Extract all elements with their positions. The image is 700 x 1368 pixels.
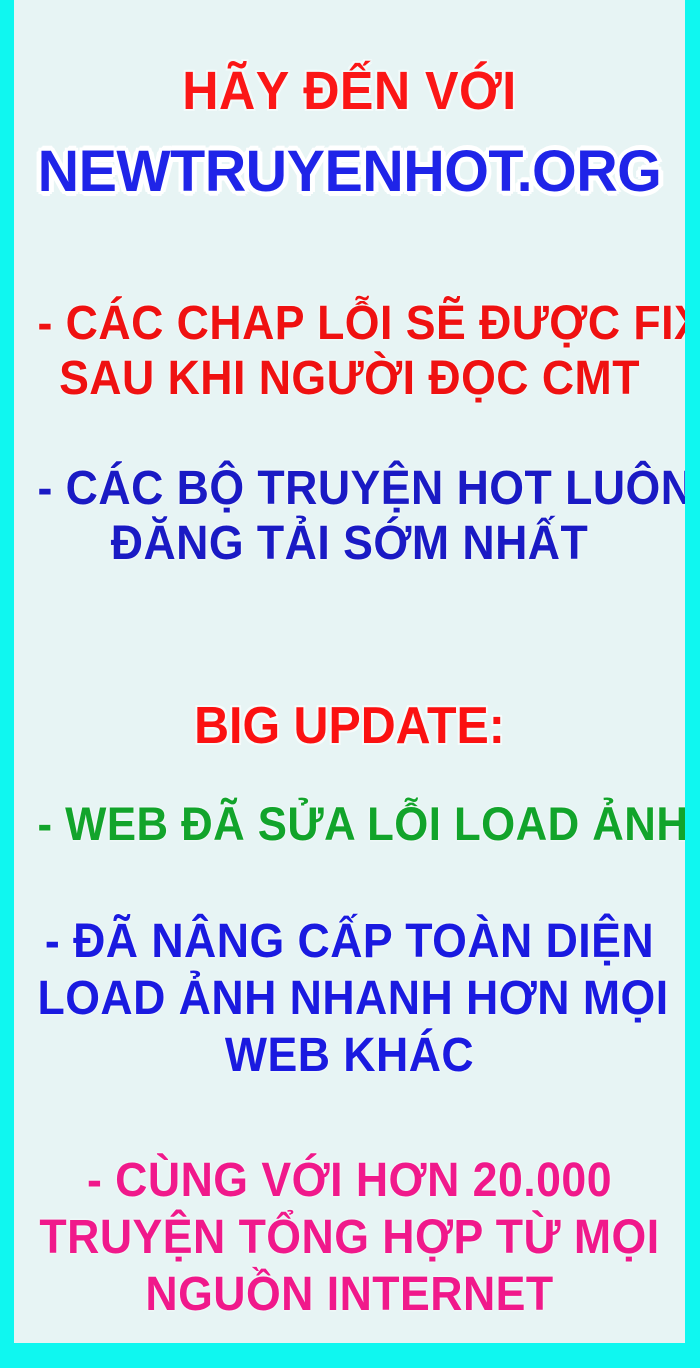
image-load-fix-item-line-1: - WEB ĐÃ SỬA LỖI LOAD ẢNH (37, 797, 661, 851)
banner-heading: HÃY ĐẾN VỚI NEWTRUYENHOT.ORG (14, 0, 685, 204)
chapter-fix-notice-line-2: SAU KHI NGƯỜI ĐỌC CMT (37, 351, 661, 406)
catalog-size-item-line-1: - CÙNG VỚI HƠN 20.000 (37, 1152, 661, 1209)
site-url-link[interactable]: NEWTRUYENHOT.ORG (17, 120, 681, 204)
promo-canvas: HÃY ĐẾN VỚI NEWTRUYENHOT.ORG - CÁC CHAP … (14, 0, 685, 1343)
promo-banner: HÃY ĐẾN VỚI NEWTRUYENHOT.ORG - CÁC CHAP … (0, 0, 700, 1368)
upgrade-item-line-2: LOAD ẢNH NHANH HƠN MỌI (37, 970, 661, 1027)
upgrade-item-line-1: - ĐÃ NÂNG CẤP TOÀN DIỆN (37, 913, 661, 970)
catalog-size-item-line-3: NGUỒN INTERNET (37, 1266, 661, 1323)
update-section-header: BIG UPDATE: (14, 571, 685, 755)
catalog-size-item: - CÙNG VỚI HƠN 20.000 TRUYỆN TỔNG HỢP TỪ… (14, 1084, 685, 1323)
heading-invitation-line: HÃY ĐẾN VỚI (37, 0, 661, 120)
upgrade-item-line-3: WEB KHÁC (37, 1027, 661, 1084)
update-section-title: BIG UPDATE: (37, 697, 661, 755)
hot-series-notice-line-1: - CÁC BỘ TRUYỆN HOT LUÔN (37, 461, 661, 516)
upgrade-item: - ĐÃ NÂNG CẤP TOÀN DIỆN LOAD ẢNH NHANH H… (14, 851, 685, 1084)
image-load-fix-item: - WEB ĐÃ SỬA LỖI LOAD ẢNH (14, 755, 685, 851)
hot-series-notice: - CÁC BỘ TRUYỆN HOT LUÔN ĐĂNG TẢI SỚM NH… (14, 406, 685, 571)
catalog-size-item-line-2: TRUYỆN TỔNG HỢP TỪ MỌI (37, 1209, 661, 1266)
chapter-fix-notice-line-1: - CÁC CHAP LỖI SẼ ĐƯỢC FIX (37, 296, 661, 351)
chapter-fix-notice: - CÁC CHAP LỖI SẼ ĐƯỢC FIX SAU KHI NGƯỜI… (14, 204, 685, 406)
hot-series-notice-line-2: ĐĂNG TẢI SỚM NHẤT (37, 516, 661, 571)
